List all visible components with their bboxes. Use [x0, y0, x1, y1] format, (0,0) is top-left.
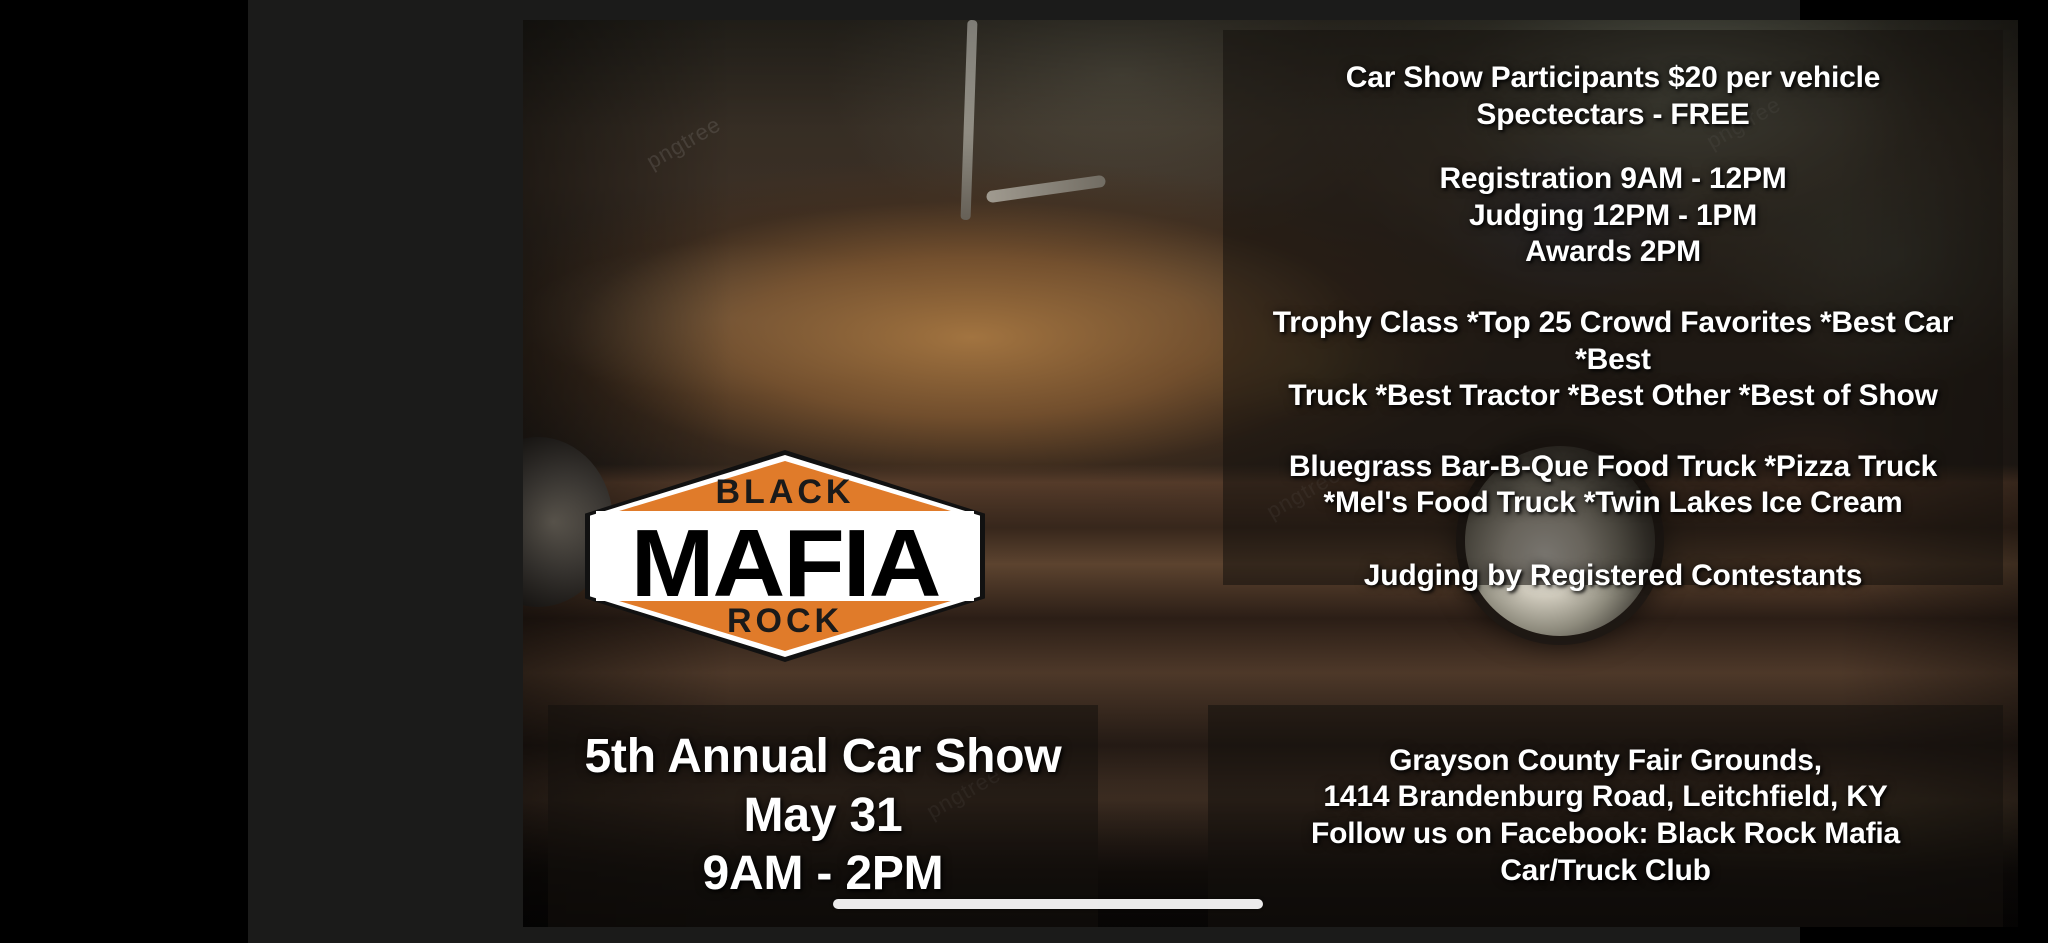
logo-word-mafia: MAFIA	[575, 516, 995, 612]
venue-line-4: Car/Truck Club	[1500, 853, 1711, 890]
horizontal-scrollbar-thumb[interactable]	[833, 899, 1263, 909]
trophy-class-block: Trophy Class *Top 25 Crowd Favorites *Be…	[1223, 271, 2003, 415]
judging-note-block: Judging by Registered Contestants	[1223, 522, 2003, 595]
horizontal-scrollbar-track[interactable]	[523, 897, 2018, 911]
food-line-2: *Mel's Food Truck *Twin Lakes Ice Cream	[1243, 485, 1983, 522]
viewer-frame: pngtree pngtree pngtree pngtree Car Show…	[248, 0, 1800, 943]
schedule-registration: Registration 9AM - 12PM	[1263, 161, 1963, 198]
schedule-awards: Awards 2PM	[1263, 234, 1963, 271]
fee-spectators: Spectectars - FREE	[1263, 97, 1963, 134]
judging-note: Judging by Registered Contestants	[1243, 558, 1983, 595]
food-vendors-block: Bluegrass Bar-B-Que Food Truck *Pizza Tr…	[1223, 415, 2003, 522]
trophy-line-2: Truck *Best Tractor *Best Other *Best of…	[1241, 378, 1985, 415]
fee-participants: Car Show Participants $20 per vehicle	[1263, 60, 1963, 97]
venue-panel: Grayson County Fair Grounds, 1414 Brande…	[1208, 705, 2003, 927]
flyer-image[interactable]: pngtree pngtree pngtree pngtree Car Show…	[523, 20, 2018, 927]
schedule-judging: Judging 12PM - 1PM	[1263, 198, 1963, 235]
event-hours: 9AM - 2PM	[703, 845, 944, 904]
venue-line-2: 1414 Brandenburg Road, Leitchfield, KY	[1323, 779, 1887, 816]
venue-line-1: Grayson County Fair Grounds,	[1389, 743, 1822, 780]
fees-block: Car Show Participants $20 per vehicle Sp…	[1223, 60, 2003, 133]
image-viewer: pngtree pngtree pngtree pngtree Car Show…	[0, 0, 2048, 943]
venue-line-3: Follow us on Facebook: Black Rock Mafia	[1311, 816, 1900, 853]
event-panel: 5th Annual Car Show May 31 9AM - 2PM	[548, 705, 1098, 927]
details-panel: Car Show Participants $20 per vehicle Sp…	[1223, 30, 2003, 585]
event-date: May 31	[744, 787, 903, 846]
watermark-text: pngtree	[642, 111, 726, 174]
logo-word-black: BLACK	[585, 473, 985, 512]
schedule-block: Registration 9AM - 12PM Judging 12PM - 1…	[1223, 133, 2003, 271]
food-line-1: Bluegrass Bar-B-Que Food Truck *Pizza Tr…	[1243, 449, 1983, 486]
black-rock-mafia-logo: BLACK MAFIA ROCK	[585, 450, 985, 662]
logo-word-rock: ROCK	[585, 602, 985, 641]
trophy-line-1: Trophy Class *Top 25 Crowd Favorites *Be…	[1241, 305, 1985, 378]
event-title: 5th Annual Car Show	[584, 728, 1061, 787]
